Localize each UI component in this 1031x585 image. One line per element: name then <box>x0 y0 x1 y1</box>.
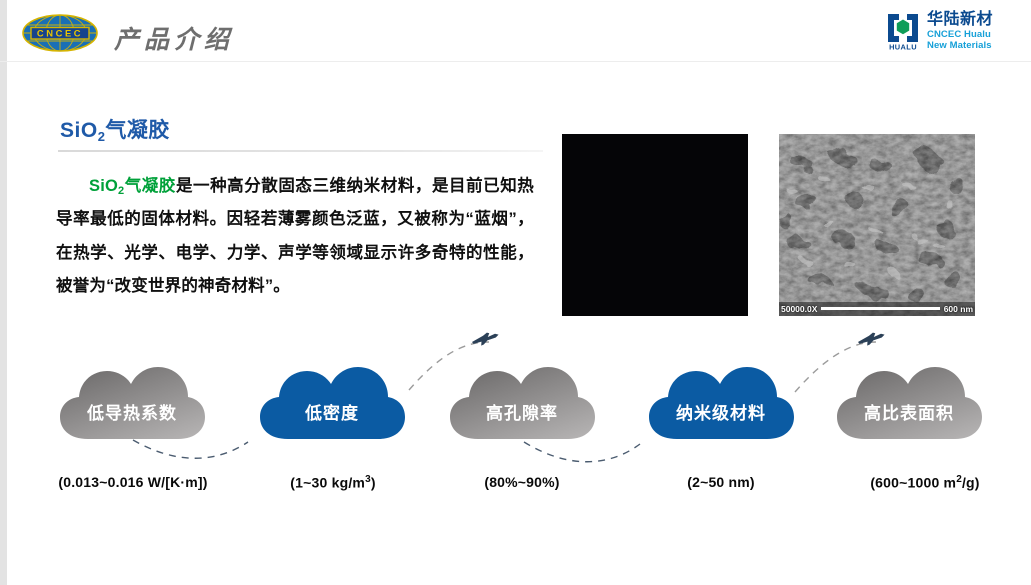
section-heading-subscript: 2 <box>98 129 106 144</box>
hualu-bracket-hexagon-icon: HUALU <box>885 11 921 51</box>
cloud-high-specific-surface-area[interactable]: 高比表面积 <box>834 363 984 445</box>
hualu-english-line2: New Materials <box>927 41 993 51</box>
sem-scale-bar: 50000.0X 600 nm <box>779 301 975 316</box>
caption-value: (1~30 kg/m <box>290 475 365 491</box>
cloud-low-density[interactable]: 低密度 <box>257 363 407 445</box>
caption-high-specific-surface-area: (600~1000 m2/g) <box>827 474 1023 491</box>
section-heading-main: SiO <box>60 119 98 142</box>
sem-micrograph-photo: 50000.0X 600 nm <box>779 134 975 316</box>
caption-value-tail: /g) <box>962 475 980 491</box>
paragraph-highlight: SiO2气凝胶 <box>89 177 176 195</box>
hualu-english-line1: CNCEC Hualu <box>927 30 993 40</box>
cloud-nanoscale-material[interactable]: 纳米级材料 <box>646 363 796 445</box>
hualu-brand-logo: HUALU 华陆新材 CNCEC Hualu New Materials <box>885 9 1017 53</box>
caption-value: (0.013~0.016 W/[K·m]) <box>58 474 207 490</box>
section-heading-tail: 气凝胶 <box>105 119 170 142</box>
page-title: 产品介绍 <box>114 20 234 56</box>
cloud-low-thermal-conductivity[interactable]: 低导热系数 <box>57 363 207 445</box>
sem-scale-bar-line <box>821 307 939 310</box>
caption-value: (80%~90%) <box>484 474 559 490</box>
body-paragraph: SiO2气凝胶是一种高分散固态三维纳米材料，是目前已知热导率最低的固体材料。因轻… <box>56 170 534 304</box>
paragraph-highlight-tail: 气凝胶 <box>124 177 176 195</box>
hualu-chinese-name: 华陆新材 <box>927 12 993 28</box>
header-divider <box>0 61 1031 62</box>
svg-text:CNCEC: CNCEC <box>37 28 83 39</box>
paragraph-highlight-subscript: 2 <box>118 185 124 197</box>
caption-value: (2~50 nm) <box>687 474 755 490</box>
cncec-globe-icon: CNCEC <box>21 14 99 52</box>
slide-root: CNCEC 产品介绍 HUALU 华陆新材 CNCEC Hualu New Ma… <box>0 0 1031 585</box>
slide-header: CNCEC 产品介绍 HUALU 华陆新材 CNCEC Hualu New Ma… <box>0 0 1031 62</box>
sem-scale-length-label: 600 nm <box>944 304 973 314</box>
caption-high-porosity: (80%~90%) <box>442 474 602 490</box>
aerogel-sample-photo <box>562 134 748 316</box>
paragraph-highlight-main: SiO <box>89 177 118 195</box>
caption-nanoscale-material: (2~50 nm) <box>641 474 801 490</box>
cloud-high-porosity[interactable]: 高孔隙率 <box>447 363 597 445</box>
caption-low-density: (1~30 kg/m3) <box>253 474 413 491</box>
svg-text:HUALU: HUALU <box>889 42 917 51</box>
caption-low-thermal-conductivity: (0.013~0.016 W/[K·m]) <box>12 474 254 490</box>
caption-value: (600~1000 m <box>870 475 956 491</box>
section-heading: SiO2气凝胶 <box>60 114 170 144</box>
caption-value-tail: ) <box>371 475 376 491</box>
sem-magnification-label: 50000.0X <box>781 304 817 314</box>
heading-divider-line <box>58 150 543 152</box>
